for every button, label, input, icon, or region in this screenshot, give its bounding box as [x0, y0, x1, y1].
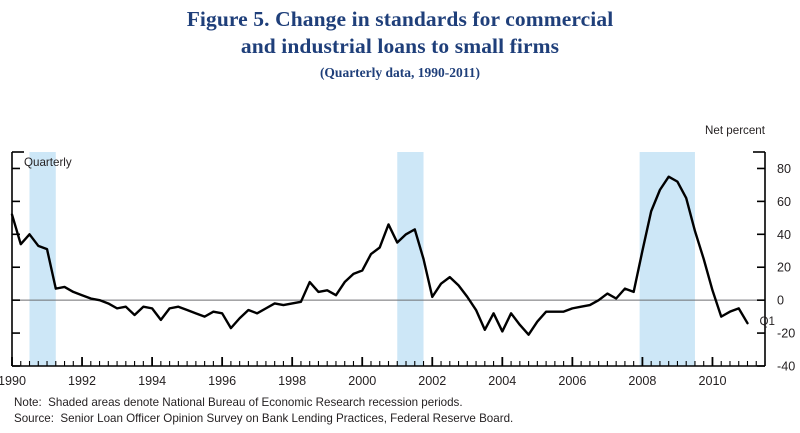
recession-band [397, 152, 423, 366]
recession-bands-group [30, 152, 695, 366]
recession-band [30, 152, 56, 366]
x-tick-label: 2002 [418, 374, 446, 387]
y-tick-label: -20 [777, 327, 795, 341]
series-line [12, 177, 747, 335]
last-point-label: Q1 [759, 315, 774, 328]
y-axis-tick-labels: -40-20020406080 [777, 162, 795, 374]
data-series-group [12, 177, 747, 335]
footer-note: Note: Shaded areas denote National Burea… [14, 395, 784, 411]
x-tick-label: 2000 [348, 374, 376, 387]
y-tick-label: 20 [777, 261, 791, 275]
y-tick-label: 40 [777, 228, 791, 242]
y-tick-label: 80 [777, 162, 791, 176]
figure-title-line2: and industrial loans to small firms [0, 33, 800, 60]
unit-label: Net percent [705, 124, 766, 137]
line-chart: -40-20020406080 199019921994199619982000… [0, 112, 800, 387]
x-tick-label: 1992 [68, 374, 96, 387]
x-tick-label: 2010 [698, 374, 726, 387]
footer-source: Source: Senior Loan Officer Opinion Surv… [14, 411, 784, 427]
y-tick-label: -40 [777, 360, 795, 374]
figure-title-line1: Figure 5. Change in standards for commer… [0, 6, 800, 33]
chart-container: -40-20020406080 199019921994199619982000… [0, 112, 800, 387]
title-block: Figure 5. Change in standards for commer… [0, 6, 800, 81]
footer-notes: Note: Shaded areas denote National Burea… [14, 395, 784, 426]
figure-subtitle: (Quarterly data, 1990-2011) [0, 65, 800, 81]
x-axis-tick-labels: 1990199219941996199820002002200420062008… [0, 374, 726, 387]
x-tick-label: 1996 [208, 374, 236, 387]
x-tick-label: 1998 [278, 374, 306, 387]
recession-band [640, 152, 695, 366]
x-tick-label: 2004 [488, 374, 516, 387]
x-tick-label: 1990 [0, 374, 26, 387]
y-tick-label: 60 [777, 195, 791, 209]
x-tick-label: 1994 [138, 374, 166, 387]
x-tick-label: 2008 [628, 374, 656, 387]
y-tick-label: 0 [777, 294, 784, 308]
frequency-label: Quarterly [24, 156, 72, 169]
x-tick-label: 2006 [558, 374, 586, 387]
